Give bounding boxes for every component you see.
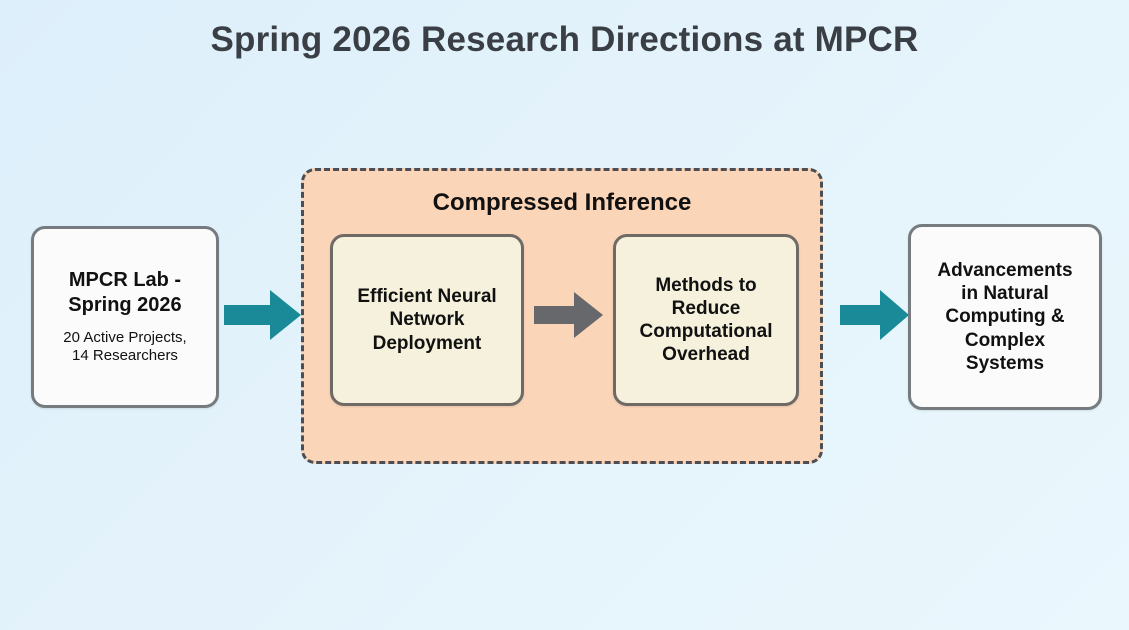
node-efficient-line3: Deployment	[357, 332, 496, 355]
node-outcome-line2: in Natural	[937, 282, 1072, 305]
node-methods-title: Methods to Reduce Computational Overhead	[640, 274, 773, 367]
node-outcome-line5: Systems	[937, 352, 1072, 375]
node-efficient-title: Efficient Neural Network Deployment	[357, 285, 496, 355]
node-methods-line4: Overhead	[640, 343, 773, 366]
arrow-efficient-to-methods-icon	[534, 290, 604, 340]
diagram-canvas: Spring 2026 Research Directions at MPCR …	[0, 0, 1129, 630]
node-mpcr-lab-subtitle-line1: 20 Active Projects,	[63, 329, 186, 347]
node-efficient-line1: Efficient Neural	[357, 285, 496, 308]
arrow-cluster-to-outcome-icon	[840, 288, 910, 342]
node-outcome-title: Advancements in Natural Computing & Comp…	[937, 259, 1072, 375]
node-mpcr-lab-subtitle-line2: 14 Researchers	[63, 347, 186, 365]
node-mpcr-lab[interactable]: MPCR Lab - Spring 2026 20 Active Project…	[31, 226, 219, 408]
cluster-compressed-inference-label: Compressed Inference	[304, 189, 820, 217]
node-advancements-natural-computing[interactable]: Advancements in Natural Computing & Comp…	[908, 224, 1102, 410]
node-efficient-neural-network-deployment[interactable]: Efficient Neural Network Deployment	[330, 234, 524, 406]
node-mpcr-lab-title-line2: Spring 2026	[68, 293, 181, 317]
node-methods-line2: Reduce	[640, 297, 773, 320]
node-mpcr-lab-title: MPCR Lab - Spring 2026	[68, 268, 181, 317]
node-outcome-line1: Advancements	[937, 259, 1072, 282]
page-title: Spring 2026 Research Directions at MPCR	[0, 20, 1129, 60]
node-mpcr-lab-subtitle: 20 Active Projects, 14 Researchers	[63, 329, 186, 366]
node-methods-to-reduce-computational-overhead[interactable]: Methods to Reduce Computational Overhead	[613, 234, 799, 406]
node-outcome-line4: Complex	[937, 329, 1072, 352]
node-mpcr-lab-title-line1: MPCR Lab -	[68, 268, 181, 292]
node-outcome-line3: Computing &	[937, 305, 1072, 328]
node-efficient-line2: Network	[357, 308, 496, 331]
node-methods-line1: Methods to	[640, 274, 773, 297]
arrow-source-to-cluster-icon	[224, 288, 302, 342]
node-methods-line3: Computational	[640, 320, 773, 343]
